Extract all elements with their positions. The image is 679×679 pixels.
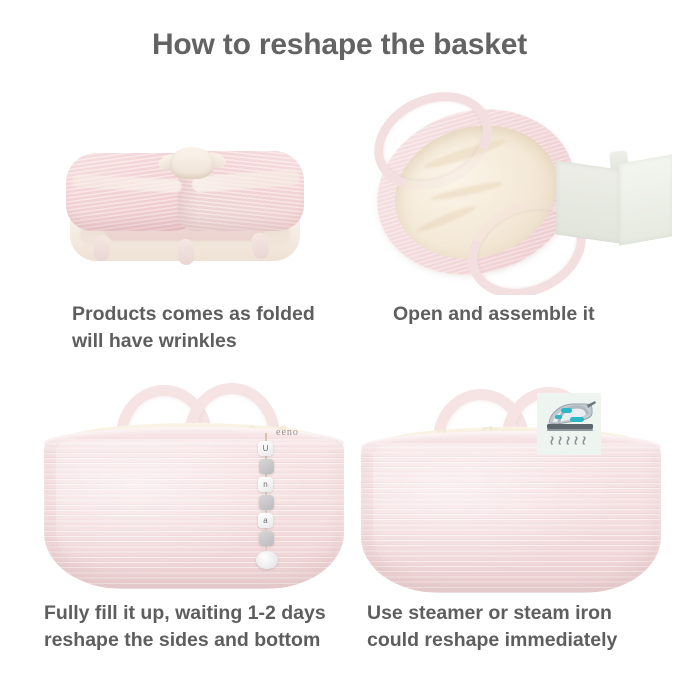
open-basket-topview-illustration [370, 95, 585, 285]
step-2-caption: Open and assemble it [393, 301, 595, 328]
name-bead-1: U [258, 441, 273, 456]
divider-board-panel-left [556, 161, 620, 244]
handle-knot-center [170, 147, 214, 179]
name-bead-3: a [258, 513, 273, 528]
name-bead-2: n [258, 477, 273, 492]
page-title: How to reshape the basket [0, 28, 679, 62]
name-bead-spacer-1 [259, 459, 274, 474]
divider-board-panel-right [619, 154, 672, 246]
filled-basket-illustration: eeno U n a [44, 381, 344, 589]
step-3-caption: Fully fill it up, waiting 1-2 days resha… [44, 600, 326, 654]
step-3-image: eeno U n a [40, 365, 350, 595]
folded-loop-b [177, 239, 194, 266]
chain-end-bead [256, 551, 278, 569]
step-4-image [355, 365, 675, 595]
beaded-name-chain: U n a [256, 437, 286, 577]
empty-basket-illustration [361, 385, 661, 593]
step-1-image [44, 85, 344, 295]
name-bead-spacer-3 [259, 531, 274, 546]
step-1-caption: Products comes as folded will have wrink… [72, 301, 315, 355]
basket-rope-body [44, 439, 344, 589]
how-to-reshape-infographic: How to reshape the basket [0, 0, 679, 679]
step-2-image [352, 85, 672, 295]
folded-basket-illustration [66, 147, 304, 265]
divider-board [556, 151, 672, 253]
step-4-caption: Use steamer or steam iron could reshape … [367, 600, 617, 654]
steam-iron-icon [537, 393, 601, 455]
name-bead-spacer-2 [259, 495, 274, 510]
basket-rope-body [361, 443, 661, 593]
